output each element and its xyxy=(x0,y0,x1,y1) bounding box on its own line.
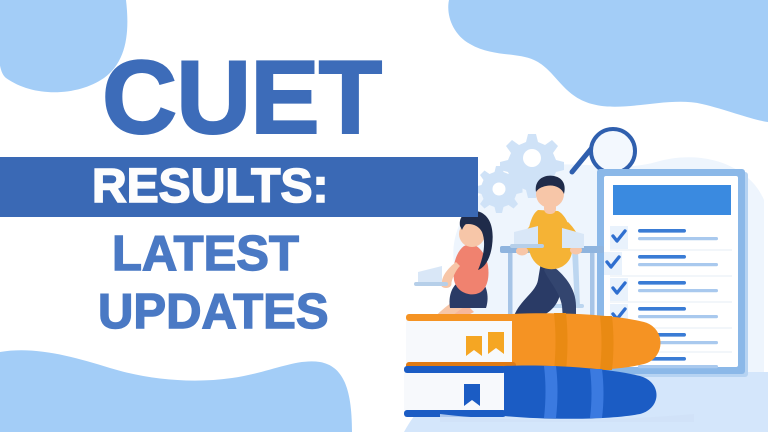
title-updates: UPDATES xyxy=(98,285,329,339)
headline-block: CUET RESULTS: LATEST UPDATES xyxy=(0,46,490,376)
blob-top-right-shape xyxy=(448,0,768,122)
cuet-results-banner: CUET RESULTS: LATEST UPDATES xyxy=(0,0,768,432)
banner-alt-text: CUET Results: Latest Updates promotional… xyxy=(0,0,1,1)
checklist-header-bar xyxy=(613,185,731,215)
title-latest: LATEST xyxy=(112,227,299,281)
title-results: RESULTS: xyxy=(92,162,328,212)
title-cuet: CUET xyxy=(102,46,381,150)
